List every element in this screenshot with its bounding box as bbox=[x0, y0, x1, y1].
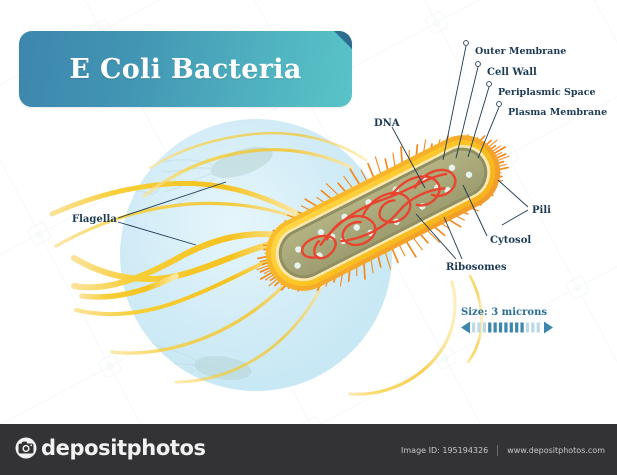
size-scale-label: Size: 3 microns bbox=[461, 307, 557, 318]
label-cytosol: Cytosol bbox=[490, 236, 531, 246]
illustration-canvas: E Coli Bacteria Outer MembraneCell WallP… bbox=[0, 0, 617, 475]
image-id: Image ID: 195194326 bbox=[401, 446, 488, 455]
depositphotos-logo: depositphotos bbox=[15, 436, 206, 460]
label-outer-membrane: Outer Membrane bbox=[475, 47, 566, 57]
camera-icon bbox=[15, 437, 37, 459]
size-scale: Size: 3 microns bbox=[461, 307, 557, 339]
size-scale-ruler bbox=[461, 321, 553, 334]
label-pili: Pili bbox=[532, 206, 551, 216]
title-banner: E Coli Bacteria bbox=[19, 31, 352, 107]
footer-bar: depositphotos Image ID: 195194326 www.de… bbox=[0, 424, 617, 475]
brand-name: depositphotos bbox=[41, 436, 206, 460]
label-flagella: Flagella bbox=[72, 215, 117, 225]
label-dna: DNA bbox=[374, 119, 400, 129]
label-plasma-membrane: Plasma Membrane bbox=[508, 108, 607, 118]
label-periplasmic-space: Periplasmic Space bbox=[498, 88, 596, 98]
page-title: E Coli Bacteria bbox=[19, 31, 352, 107]
website-url[interactable]: www.depositphotos.com bbox=[507, 446, 605, 455]
footer-meta: Image ID: 195194326 www.depositphotos.co… bbox=[401, 445, 605, 456]
label-ribosomes: Ribosomes bbox=[446, 263, 507, 273]
footer-divider bbox=[497, 445, 498, 456]
label-cell-wall: Cell Wall bbox=[487, 68, 537, 78]
